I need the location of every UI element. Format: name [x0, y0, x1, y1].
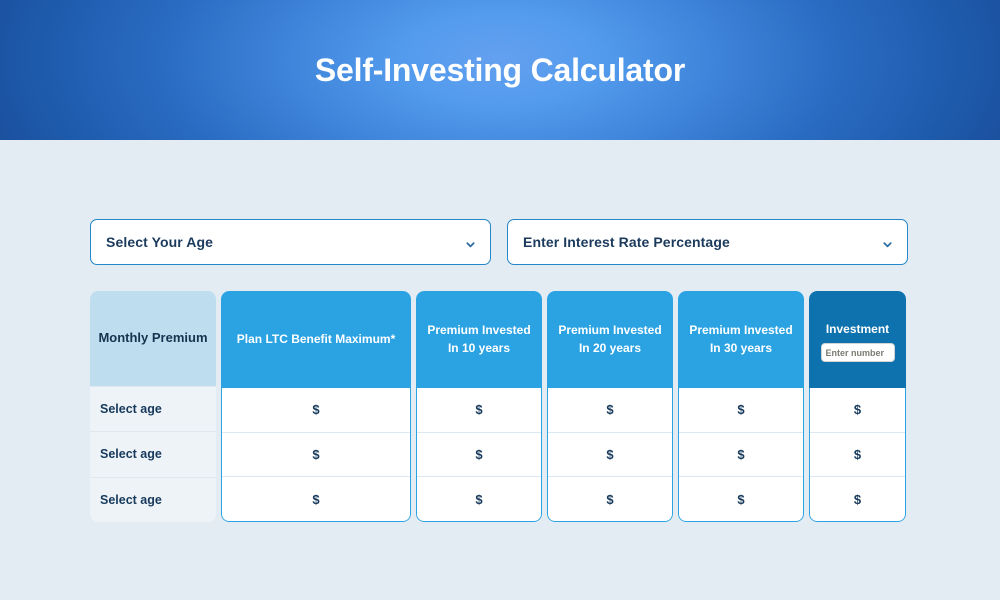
column-header-investment: Investment	[809, 291, 906, 388]
column-header-invested-20-years: Premium Invested In 20 years	[547, 291, 673, 388]
age-select-label: Select Your Age	[106, 234, 465, 250]
column-header-line1: Premium Invested	[558, 323, 661, 337]
table-row: $	[548, 476, 672, 521]
column-header-invested-10-years: Premium Invested In 10 years	[416, 291, 542, 388]
form-controls: Select Your Age Enter Interest Rate Perc…	[90, 219, 908, 265]
table-row: $	[810, 476, 905, 521]
page-header-banner: Self-Investing Calculator	[0, 0, 1000, 140]
chevron-down-icon	[882, 237, 893, 248]
table-column-invested-30-years: Premium Invested In 30 years $ $ $	[678, 291, 804, 522]
table-row[interactable]: Select age	[90, 477, 216, 522]
column-body-invested-30-years: $ $ $	[678, 388, 804, 522]
interest-rate-select[interactable]: Enter Interest Rate Percentage	[507, 219, 908, 265]
column-body-monthly-premium: Select age Select age Select age	[90, 386, 216, 522]
table-column-ltc-benefit: Plan LTC Benefit Maximum* $ $ $	[221, 291, 411, 522]
age-select[interactable]: Select Your Age	[90, 219, 491, 265]
table-row: $	[810, 388, 905, 432]
table-row: $	[679, 388, 803, 432]
column-body-investment: $ $ $	[809, 388, 906, 522]
column-header-line2: In 20 years	[579, 341, 641, 355]
column-body-invested-20-years: $ $ $	[547, 388, 673, 522]
investment-amount-input[interactable]	[821, 343, 895, 362]
column-header-line1: Investment	[826, 321, 889, 338]
table-row: $	[222, 432, 410, 477]
table-row: $	[417, 432, 541, 477]
table-column-monthly-premium: Monthly Premium Select age Select age Se…	[90, 291, 216, 522]
column-header-line1: Premium Invested	[689, 323, 792, 337]
table-row: $	[548, 388, 672, 432]
table-row: $	[417, 388, 541, 432]
table-row: $	[417, 476, 541, 521]
column-header-line2: In 30 years	[710, 341, 772, 355]
table-row: $	[679, 432, 803, 477]
column-header-ltc-benefit: Plan LTC Benefit Maximum*	[221, 291, 411, 388]
table-row: $	[222, 388, 410, 432]
column-header-line1: Premium Invested	[427, 323, 530, 337]
column-header-monthly-premium: Monthly Premium	[90, 291, 216, 386]
table-column-investment: Investment $ $ $	[809, 291, 906, 522]
table-row: $	[679, 476, 803, 521]
table-column-invested-10-years: Premium Invested In 10 years $ $ $	[416, 291, 542, 522]
table-row: $	[222, 476, 410, 521]
column-body-ltc-benefit: $ $ $	[221, 388, 411, 522]
column-header-line2: In 10 years	[448, 341, 510, 355]
table-row: $	[548, 432, 672, 477]
table-row[interactable]: Select age	[90, 431, 216, 476]
table-column-invested-20-years: Premium Invested In 20 years $ $ $	[547, 291, 673, 522]
page-title: Self-Investing Calculator	[315, 54, 685, 86]
chevron-down-icon	[465, 237, 476, 248]
table-row: $	[810, 432, 905, 477]
interest-rate-select-label: Enter Interest Rate Percentage	[523, 234, 882, 250]
column-body-invested-10-years: $ $ $	[416, 388, 542, 522]
table-row[interactable]: Select age	[90, 386, 216, 431]
calculator-table: Monthly Premium Select age Select age Se…	[90, 291, 908, 522]
column-header-invested-30-years: Premium Invested In 30 years	[678, 291, 804, 388]
